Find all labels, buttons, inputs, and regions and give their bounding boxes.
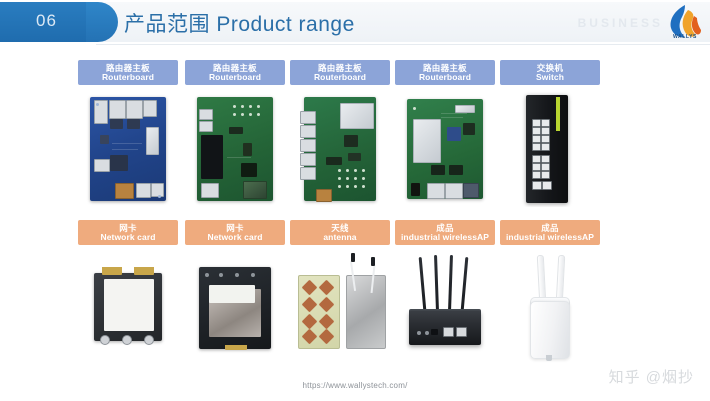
- product-cell-industrial-ap-outdoor[interactable]: 成品 industrial wirelessAP: [500, 220, 600, 367]
- product-cell-routerboard-4[interactable]: 路由器主板 Routerboard: [395, 60, 495, 207]
- product-badge: 路由器主板 Routerboard: [185, 60, 285, 85]
- badge-label-en: Routerboard: [314, 73, 366, 82]
- badge-label-en: antenna: [323, 233, 356, 242]
- product-cell-routerboard-1[interactable]: 路由器主板 Routerboard: [78, 60, 178, 207]
- badge-label-en: Network card: [207, 233, 262, 242]
- product-image-blue-routerboard-pcb: [78, 89, 178, 207]
- product-image-panel-antenna-pair: [290, 249, 390, 367]
- product-badge: 成品 industrial wirelessAP: [395, 220, 495, 245]
- badge-label-en: Routerboard: [209, 73, 261, 82]
- product-badge: 网卡 Network card: [78, 220, 178, 245]
- section-number: 06: [36, 11, 57, 31]
- product-image-black-rackmount-switch: [500, 89, 600, 207]
- badge-label-en: Network card: [100, 233, 155, 242]
- product-image-indoor-industrial-ap: [395, 249, 495, 367]
- product-cell-routerboard-2[interactable]: 路由器主板 Routerboard: [185, 60, 285, 207]
- product-cell-network-card-2[interactable]: 网卡 Network card: [185, 220, 285, 367]
- product-cell-routerboard-3[interactable]: 路由器主板 Routerboard: [290, 60, 390, 207]
- product-badge: 交换机 Switch: [500, 60, 600, 85]
- product-image-mini-pcie-network-card: [78, 249, 178, 367]
- header-divider: [96, 44, 710, 45]
- badge-label-en: industrial wirelessAP: [506, 233, 594, 242]
- product-badge: 天线 antenna: [290, 220, 390, 245]
- watermark: 知乎 @烟抄: [609, 366, 694, 387]
- logo-wordmark: WALLYS: [664, 34, 706, 40]
- product-image-green-routerboard-pcb: [185, 89, 285, 207]
- badge-label-en: Routerboard: [419, 73, 471, 82]
- slide-canvas: 06 产品范围 Product range BUSINESS WALLYS 路由…: [0, 0, 710, 401]
- product-image-m2-network-card: [185, 249, 285, 367]
- header-ghost-text: BUSINESS: [578, 16, 663, 30]
- product-badge: 成品 industrial wirelessAP: [500, 220, 600, 245]
- product-image-outdoor-industrial-ap: [500, 249, 600, 367]
- product-cell-switch[interactable]: 交换机 Switch: [500, 60, 600, 207]
- product-cell-antenna[interactable]: 天线 antenna: [290, 220, 390, 367]
- footer-url[interactable]: https://www.wallystech.com/: [0, 381, 710, 390]
- page-title: 产品范围 Product range: [124, 8, 355, 38]
- product-image-green-multiport-routerboard-pcb: [290, 89, 390, 207]
- product-image-green-shielded-routerboard-pcb: [395, 89, 495, 207]
- badge-label-en: Switch: [536, 73, 564, 82]
- slide-header: 06 产品范围 Product range BUSINESS WALLYS: [0, 0, 710, 46]
- product-cell-network-card-1[interactable]: 网卡 Network card: [78, 220, 178, 367]
- product-badge: 路由器主板 Routerboard: [78, 60, 178, 85]
- badge-label-en: industrial wirelessAP: [401, 233, 489, 242]
- product-badge: 网卡 Network card: [185, 220, 285, 245]
- product-badge: 路由器主板 Routerboard: [290, 60, 390, 85]
- product-cell-industrial-ap-indoor[interactable]: 成品 industrial wirelessAP: [395, 220, 495, 367]
- badge-label-en: Routerboard: [102, 73, 154, 82]
- product-badge: 路由器主板 Routerboard: [395, 60, 495, 85]
